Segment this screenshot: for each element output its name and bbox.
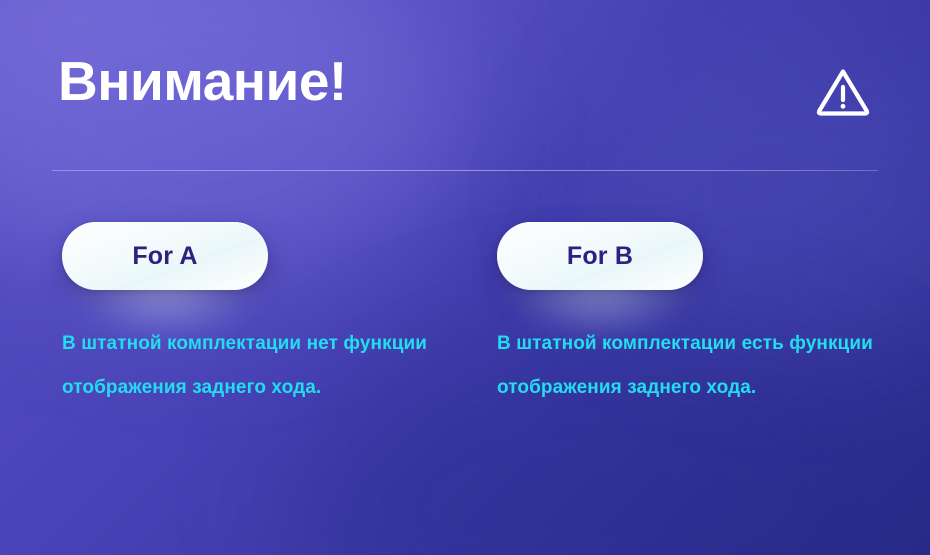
pill-button-for-b[interactable]: For B [497, 222, 703, 290]
column-for-a: For A В штатной комплектации нет функции… [62, 222, 462, 290]
warning-banner: Внимание! For A В штатной комплектации н… [0, 0, 930, 555]
page-title: Внимание! [58, 52, 347, 111]
pill-button-for-a[interactable]: For A [62, 222, 268, 290]
description-for-b: В штатной комплектации есть функции отоб… [497, 322, 887, 410]
pill-wrap-for-a: For A [62, 222, 268, 290]
pill-label-for-b: For B [567, 244, 633, 269]
background-sheen-top-right [590, 40, 930, 340]
pill-wrap-for-b: For B [497, 222, 703, 290]
column-for-b: For B В штатной комплектации есть функци… [497, 222, 897, 290]
header-divider [52, 170, 878, 171]
warning-triangle-icon [814, 63, 872, 121]
description-for-a: В штатной комплектации нет функции отобр… [62, 322, 452, 410]
pill-label-for-a: For A [132, 244, 197, 269]
